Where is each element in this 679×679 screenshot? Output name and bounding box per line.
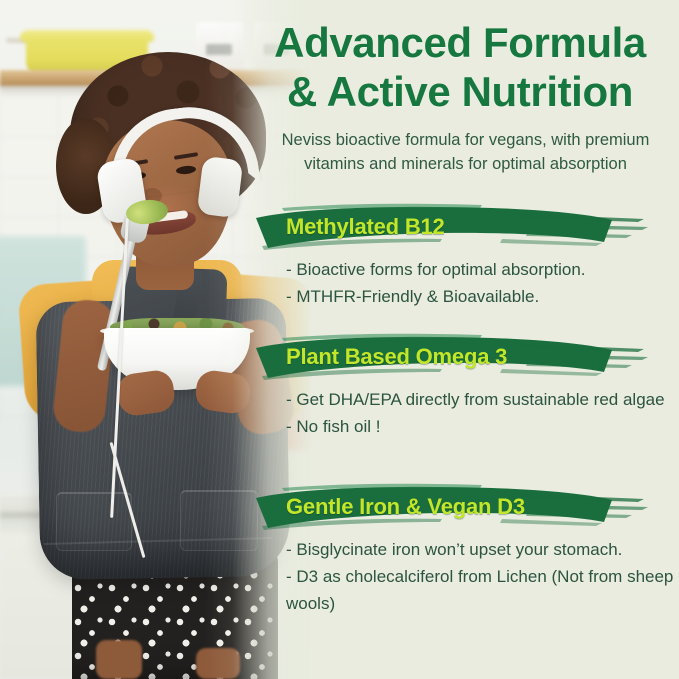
page-subtitle: Neviss bioactive formula for vegans, wit…: [258, 128, 673, 176]
feature-block-methylated-b12: Methylated B12 - Bioactive forms for opt…: [248, 202, 679, 310]
headphone-earcup: [197, 156, 244, 218]
feature-bullets: - Bisglycinate iron won’t upset your sto…: [248, 536, 679, 617]
brush-stroke-banner: Gentle Iron & Vegan D3: [252, 482, 652, 534]
leg: [96, 640, 142, 679]
feature-title: Plant Based Omega 3: [286, 344, 507, 370]
content-column: Advanced Formula & Active Nutrition Nevi…: [248, 0, 679, 679]
feature-title: Methylated B12: [286, 214, 445, 240]
feature-title: Gentle Iron & Vegan D3: [286, 494, 525, 520]
brush-stroke-banner: Methylated B12: [252, 202, 652, 254]
bullet-item: - No fish oil !: [286, 413, 679, 440]
feature-block-plant-based-omega-3: Plant Based Omega 3 - Get DHA/EPA direct…: [248, 332, 679, 440]
brush-stroke-banner: Plant Based Omega 3: [252, 332, 652, 384]
feature-bullets: - Get DHA/EPA directly from sustainable …: [248, 386, 679, 440]
bullet-item: - Bioactive forms for optimal absorption…: [286, 256, 679, 283]
bullet-item: - Get DHA/EPA directly from sustainable …: [286, 386, 679, 413]
feature-block-gentle-iron-vegan-d3: Gentle Iron & Vegan D3 - Bisglycinate ir…: [248, 482, 679, 617]
bullet-item: - D3 as cholecalciferol from Lichen (Not…: [286, 563, 679, 617]
page-title: Advanced Formula & Active Nutrition: [248, 18, 672, 116]
bullet-item: - MTHFR-Friendly & Bioavailable.: [286, 283, 679, 310]
apron-pocket: [180, 490, 258, 551]
feature-bullets: - Bioactive forms for optimal absorption…: [248, 256, 679, 310]
leg: [196, 648, 240, 679]
headline-line-2: & Active Nutrition: [248, 67, 672, 116]
bullet-item: - Bisglycinate iron won’t upset your sto…: [286, 536, 679, 563]
promo-banner: Advanced Formula & Active Nutrition Nevi…: [0, 0, 679, 679]
headline-line-1: Advanced Formula: [248, 18, 672, 67]
